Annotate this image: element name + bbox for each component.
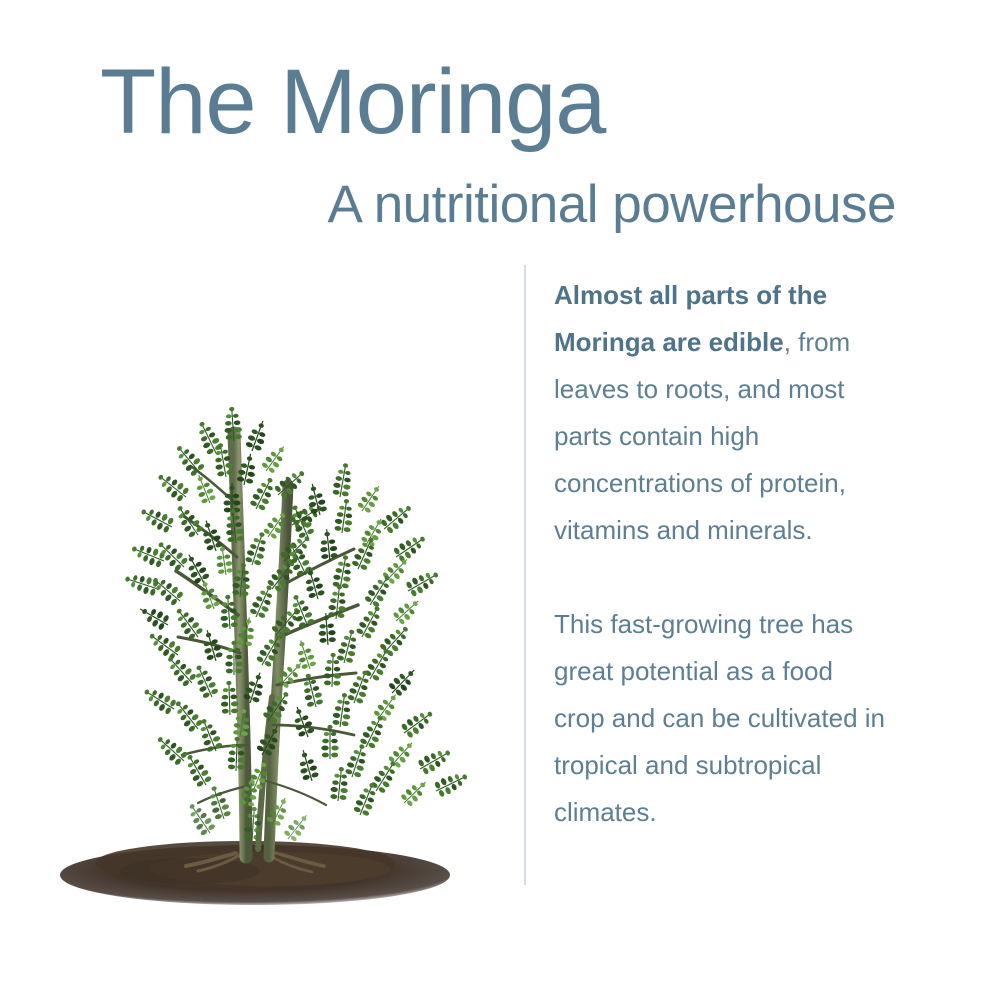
paragraph-fast-growing: This fast-growing tree has great potenti…	[554, 601, 886, 836]
paragraph-edible-parts: Almost all parts of the Moringa are edib…	[554, 272, 886, 554]
infographic-page: The Moringa A nutritional powerhouse	[0, 0, 1000, 1000]
soil-mound	[60, 841, 450, 905]
page-title: The Moringa	[100, 56, 605, 148]
vertical-divider	[524, 265, 526, 885]
moringa-tree-image	[40, 185, 510, 910]
paragraph-lead-rest: , from leaves to roots, and most parts c…	[554, 327, 850, 545]
copy-block: Almost all parts of the Moringa are edib…	[554, 272, 886, 836]
canopy-right	[283, 462, 470, 818]
